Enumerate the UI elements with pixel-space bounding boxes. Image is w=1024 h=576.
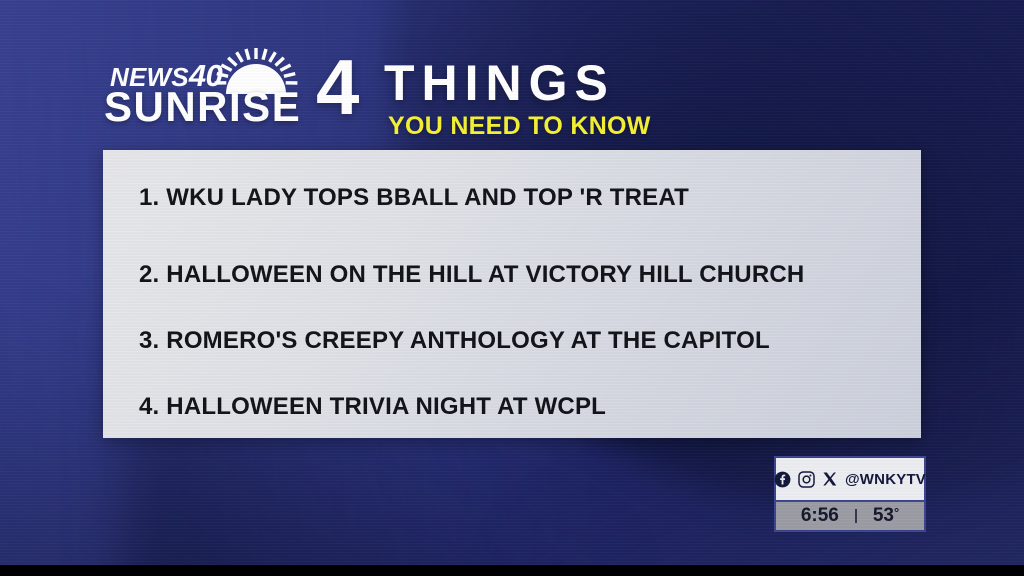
degree-symbol: ° (894, 505, 899, 520)
station-logo: NEWS40 (104, 42, 304, 134)
headline-count: 4 (316, 48, 359, 126)
list-item: 1. WKU LADY TOPS BBALL AND TOP 'R TREAT (139, 184, 901, 212)
letterbox-bar (0, 565, 1024, 576)
clock-time: 6:56 (801, 505, 839, 527)
temperature-readout: 53° (873, 505, 899, 527)
bug-separator (855, 509, 857, 523)
facebook-icon (774, 471, 791, 488)
headline-word: THINGS (384, 58, 615, 108)
list-item: 4. HALLOWEEN TRIVIA NIGHT AT WCPL (139, 393, 901, 421)
headline-subtitle: YOU NEED TO KNOW (388, 114, 651, 139)
list-item: 2. HALLOWEEN ON THE HILL AT VICTORY HILL… (139, 261, 901, 289)
list-item: 3. ROMERO'S CREEPY ANTHOLOGY AT THE CAPI… (139, 327, 901, 355)
temperature-value: 53 (873, 505, 894, 526)
x-twitter-icon (822, 471, 838, 487)
broadcast-header: NEWS40 (104, 42, 676, 134)
broadcast-screen: NEWS40 (0, 0, 1024, 576)
time-temperature-bar: 6:56 53° (776, 500, 924, 530)
social-bug-handles: @WNKYTV (776, 458, 924, 500)
items-list: 1. WKU LADY TOPS BBALL AND TOP 'R TREAT … (139, 174, 901, 421)
station-logo-sunrise: SUNRISE (104, 86, 301, 128)
instagram-icon (798, 471, 815, 488)
headline-block: 4 THINGS YOU NEED TO KNOW (316, 42, 676, 134)
items-panel: 1. WKU LADY TOPS BBALL AND TOP 'R TREAT … (103, 150, 921, 438)
social-handle: @WNKYTV (845, 471, 926, 488)
social-bug: @WNKYTV 6:56 53° (774, 456, 926, 532)
